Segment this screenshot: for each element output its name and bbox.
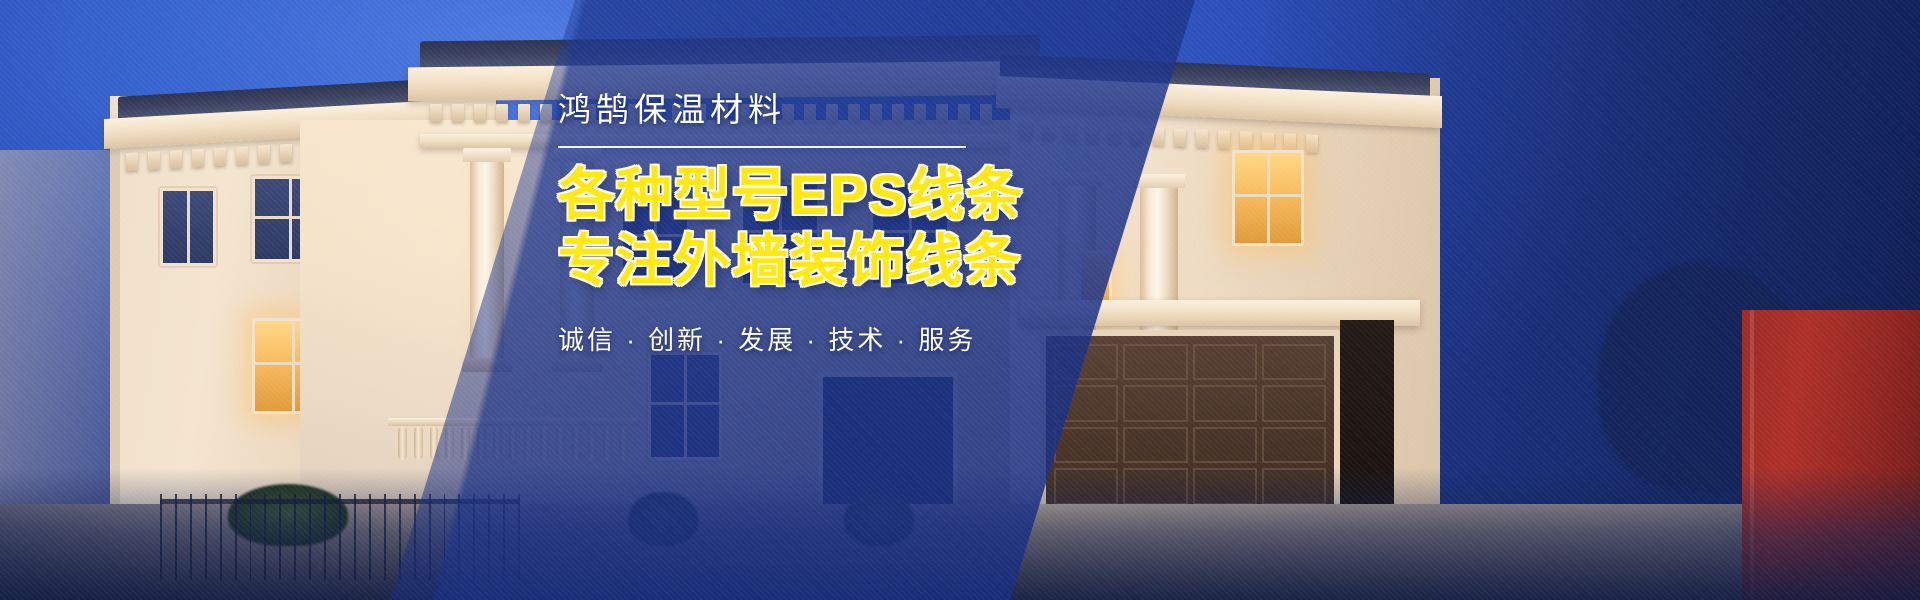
window <box>160 188 216 266</box>
window-lit <box>1232 150 1304 246</box>
brand-name: 鸿鹄保温材料 <box>558 92 1038 128</box>
banner-copy: 鸿鹄保温材料 各种型号EPS线条 专注外墙装饰线条 诚信 · 创新 · 发展 ·… <box>558 92 1038 357</box>
headline-line-2: 专注外墙装饰线条 <box>558 228 1038 294</box>
headline-line-1: 各种型号EPS线条 <box>558 163 1024 226</box>
headline: 各种型号EPS线条 专注外墙装饰线条 <box>558 162 1038 294</box>
tagline: 诚信 · 创新 · 发展 · 技术 · 服务 <box>558 320 1038 357</box>
divider-rule <box>558 146 966 148</box>
promo-banner: 鸿鹄保温材料 各种型号EPS线条 专注外墙装饰线条 诚信 · 创新 · 发展 ·… <box>0 0 1920 600</box>
